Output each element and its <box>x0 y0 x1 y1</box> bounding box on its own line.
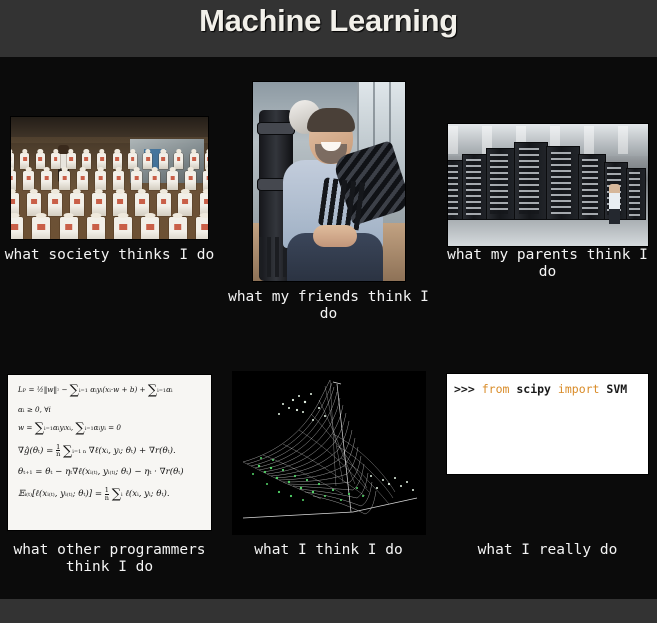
3d-svm-decision-surface-plot <box>233 372 425 534</box>
panel-friends: what my friends think I do <box>219 57 438 329</box>
caption-friends: what my friends think I do <box>219 289 438 323</box>
page-title: Machine Learning <box>0 3 657 39</box>
panel-i-really-do: >>> from scipy import SVM what I really … <box>438 329 657 599</box>
caption-parents: what my parents think I do <box>438 247 657 281</box>
panel-other-programmers: LP = ½‖w‖² − ∑i=1 αiyi(xi·w + b) + ∑i=1α… <box>0 329 219 599</box>
footer-band <box>0 599 657 623</box>
svm-math-equations-image: LP = ½‖w‖² − ∑i=1 αiyi(xi·w + b) + ∑i=1α… <box>8 375 211 530</box>
panel-parents: what my parents think I do <box>438 57 657 329</box>
console-module-name: scipy <box>516 382 551 396</box>
equation-gradient: ∇ĝ(θt) = 1n ∑i=1 n ∇ℓ(xi, yi; θt) + ∇r(θ… <box>18 444 203 460</box>
python-console-screenshot[interactable]: >>> from scipy import SVM <box>447 374 648 474</box>
console-line: >>> from scipy import SVM <box>454 382 641 396</box>
equation-alpha-constraint: αi ≥ 0, ∀i <box>18 406 203 415</box>
console-keyword-import: import <box>558 382 600 396</box>
supercomputer-server-room-photo <box>448 124 648 246</box>
console-keyword-from: from <box>482 382 510 396</box>
console-symbol-name: SVM <box>606 382 627 396</box>
caption-i-really-do: what I really do <box>438 542 657 559</box>
panel-grid: what society thinks I do <box>0 57 657 599</box>
caption-i-think: what I think I do <box>219 542 438 559</box>
panel-i-think: what I think I do <box>219 329 438 599</box>
equation-w-dual: w = ∑i=1αiyixi, ∑i=1αiyi = 0 <box>18 422 203 437</box>
auditorium-full-of-humanoid-robots-photo <box>11 117 208 239</box>
surface-plot-svg <box>233 372 425 534</box>
equation-lagrangian: LP = ½‖w‖² − ∑i=1 αiyi(xi·w + b) + ∑i=1α… <box>18 384 203 399</box>
equation-sgd-update: θt+1 = θt − ηt∇ℓ(xi(t), yi(t); θt) − ηt … <box>18 468 203 478</box>
panel-society: what society thinks I do <box>0 57 219 329</box>
caption-society: what society thinks I do <box>0 247 219 264</box>
caption-other-programmers: what other programmers think I do <box>0 542 219 576</box>
meme-image: Machine Learning <box>0 0 657 623</box>
man-with-robotic-arm-photo <box>253 82 405 281</box>
console-prompt: >>> <box>454 382 475 396</box>
equation-expectation: 𝔼i(t)[ℓ(xi(t), yi(t); θt)] = 1n ∑i ℓ(xi,… <box>18 487 203 503</box>
